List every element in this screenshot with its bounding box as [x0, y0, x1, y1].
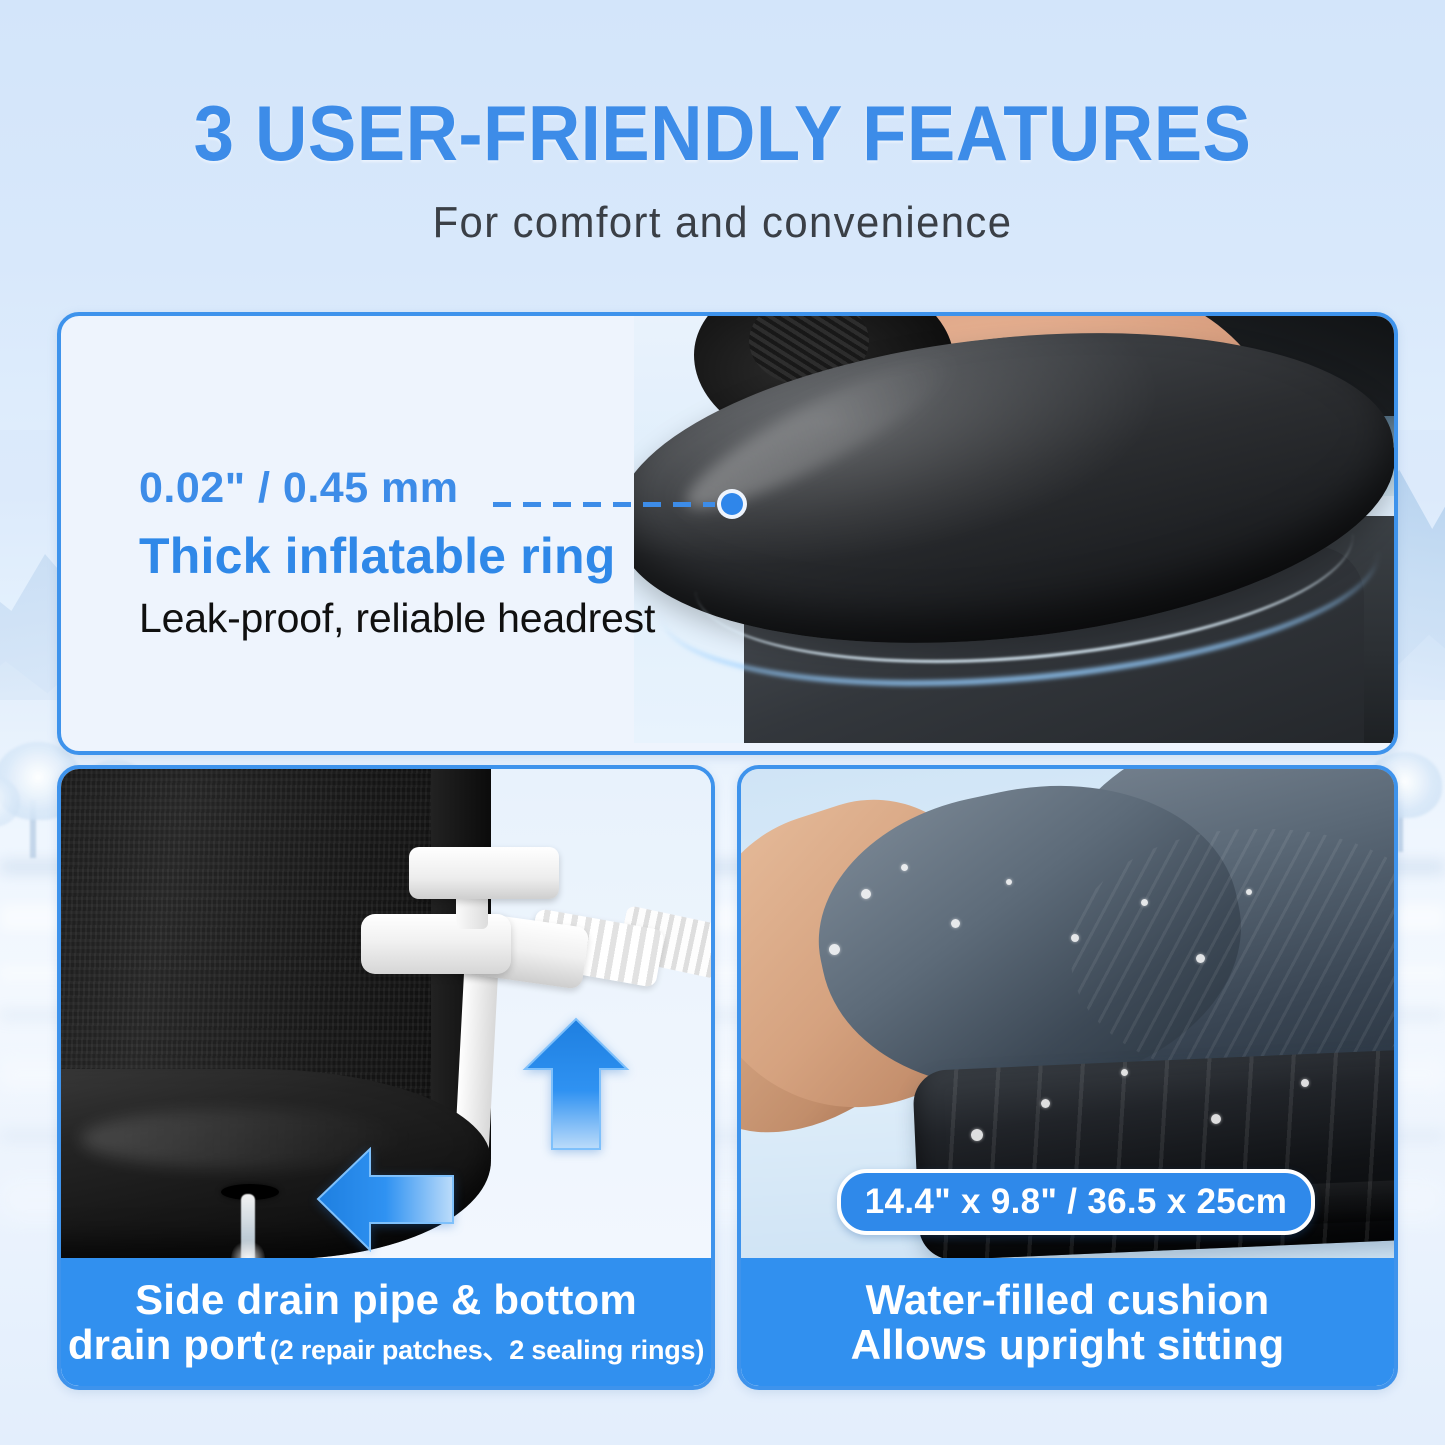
- drain-caption: Side drain pipe & bottom drain port (2 r…: [61, 1258, 711, 1386]
- cushion-caption-line1: Water-filled cushion: [741, 1277, 1394, 1322]
- arrow-left-icon: [316, 1147, 456, 1252]
- drain-valve-body: [361, 914, 511, 974]
- dashed-line: [493, 502, 715, 507]
- drain-caption-main: drain port: [68, 1322, 266, 1367]
- water-droplet: [1006, 879, 1012, 885]
- water-droplet: [1121, 1069, 1128, 1076]
- ring-text-block: 0.02" / 0.45 mm Thick inflatable ring Le…: [139, 464, 699, 642]
- cushion-size-pill: 14.4" x 9.8" / 36.5 x 25cm: [837, 1169, 1315, 1235]
- water-droplet: [1211, 1114, 1221, 1124]
- page-title: 3 USER-FRIENDLY FEATURES: [51, 88, 1395, 179]
- water-droplet: [861, 889, 871, 899]
- cushion-caption: Water-filled cushion Allows upright sitt…: [741, 1258, 1394, 1386]
- callout-leader: [493, 493, 743, 515]
- water-droplet: [1246, 889, 1252, 895]
- arrow-up-icon: [521, 1017, 631, 1152]
- drain-caption-line1: Side drain pipe & bottom: [61, 1277, 711, 1322]
- water-droplet: [1071, 934, 1079, 942]
- drain-caption-line2: drain port (2 repair patches、2 sealing r…: [61, 1322, 711, 1367]
- water-droplet: [901, 864, 908, 871]
- drain-valve-handle: [409, 847, 559, 899]
- water-droplet: [951, 919, 960, 928]
- cushion-photo: 14.4" x 9.8" / 36.5 x 25cm: [741, 769, 1394, 1259]
- cushion-caption-line2: Allows upright sitting: [741, 1322, 1394, 1367]
- cushion-size-label: 14.4" x 9.8" / 36.5 x 25cm: [865, 1182, 1287, 1222]
- callout-dot-icon: [721, 493, 743, 515]
- water-droplet: [1141, 899, 1148, 906]
- feature-panel-drain: Side drain pipe & bottom drain port (2 r…: [57, 765, 715, 1390]
- water-droplet: [971, 1129, 983, 1141]
- feature-panel-cushion: 14.4" x 9.8" / 36.5 x 25cm Water-filled …: [737, 765, 1398, 1390]
- water-droplet: [1196, 954, 1205, 963]
- water-droplet: [1301, 1079, 1309, 1087]
- page-subtitle: For comfort and convenience: [36, 198, 1409, 248]
- water-droplet: [1041, 1099, 1050, 1108]
- infographic-stage: 3 USER-FRIENDLY FEATURES For comfort and…: [0, 0, 1445, 1445]
- drain-photo: [61, 769, 711, 1259]
- ring-description-label: Leak-proof, reliable headrest: [139, 595, 699, 642]
- water-droplet: [829, 944, 840, 955]
- ring-feature-label: Thick inflatable ring: [139, 527, 699, 585]
- ring-photo: [634, 316, 1394, 743]
- drain-caption-note: (2 repair patches、2 sealing rings): [270, 1336, 704, 1365]
- feature-panel-inflatable-ring: 0.02" / 0.45 mm Thick inflatable ring Le…: [57, 312, 1398, 755]
